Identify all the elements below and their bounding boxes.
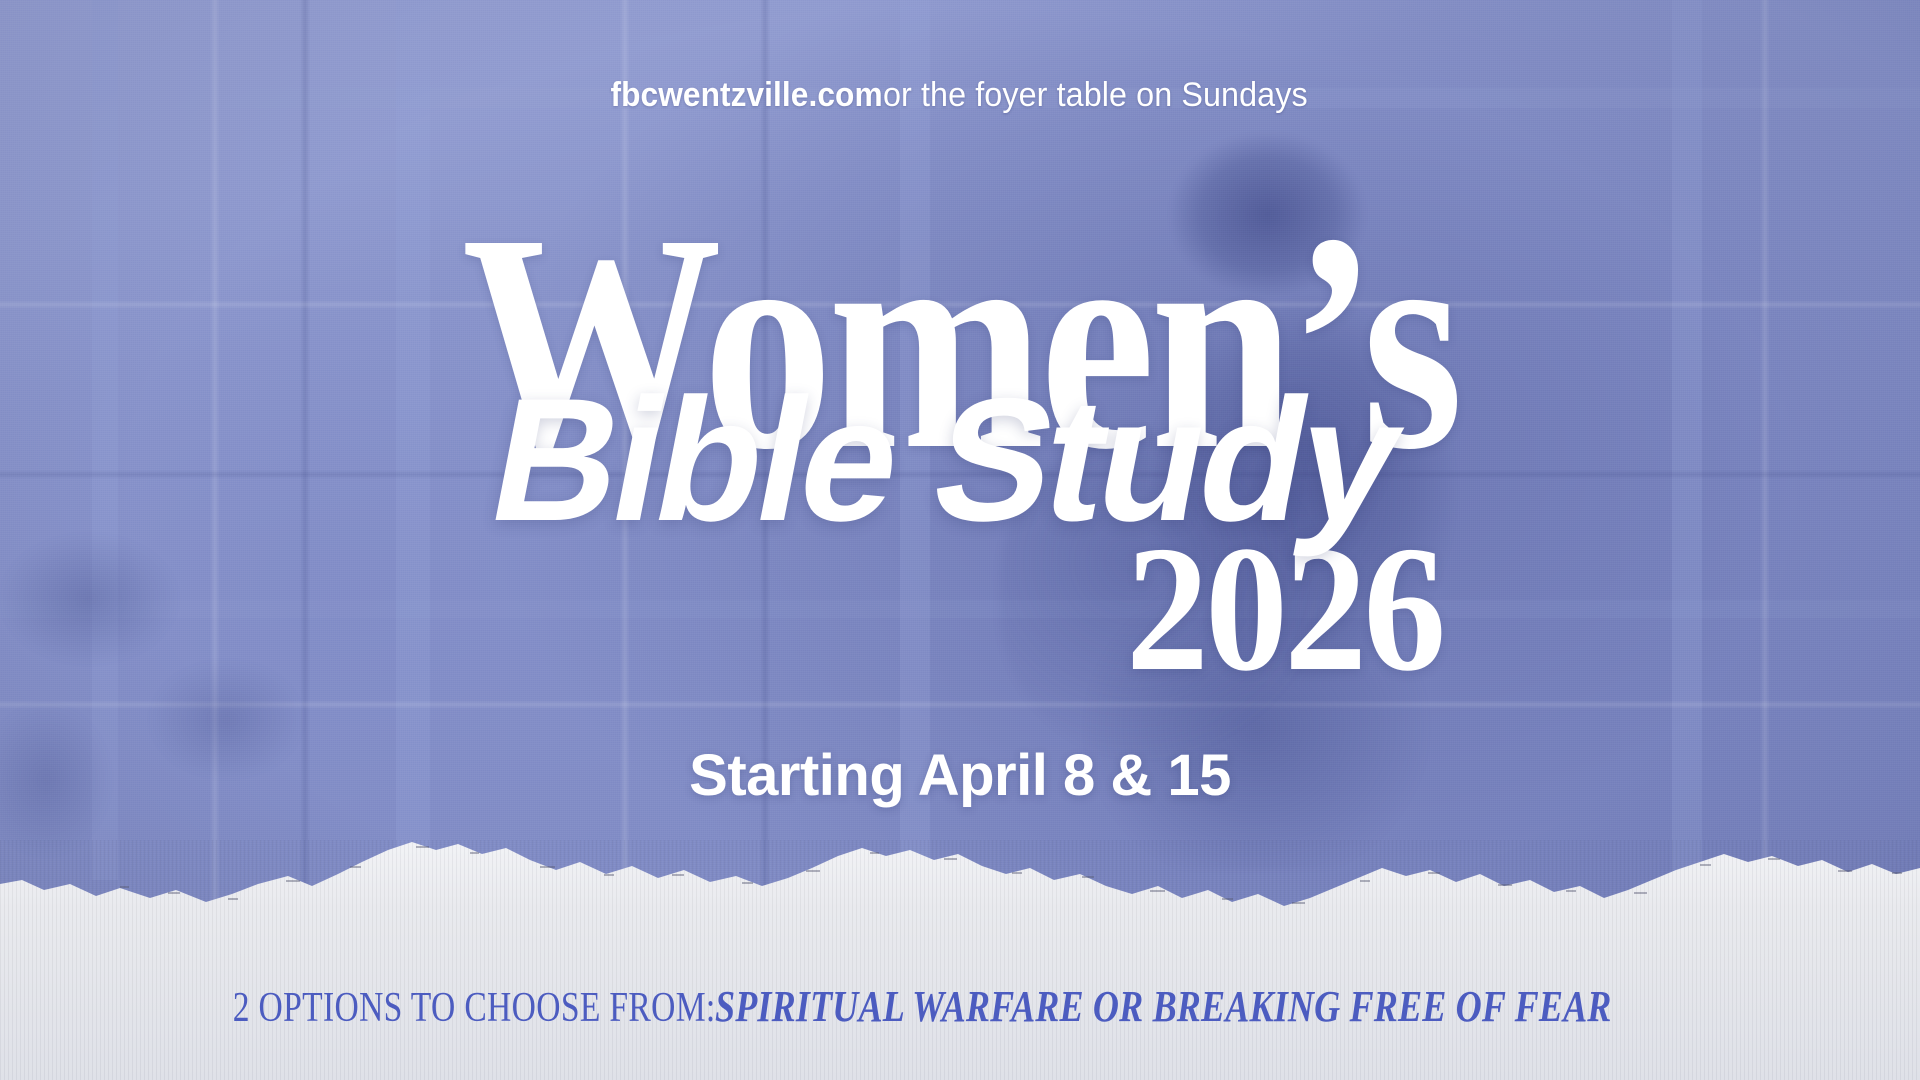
registration-location-text: or the foyer table on Sundays bbox=[883, 76, 1308, 115]
poster-canvas: fbcwentzville.com or the foyer table on … bbox=[0, 0, 1920, 1080]
start-date-text: Starting April 8 & 15 bbox=[0, 742, 1920, 809]
options-banner: 2 OPTIONS TO CHOOSE FROM: SPIRITUAL WARF… bbox=[0, 981, 1920, 1032]
options-lead-text: 2 OPTIONS TO CHOOSE FROM: bbox=[232, 984, 715, 1032]
title-lockup: Women’s 2026 Bible Study bbox=[0, 210, 1920, 730]
options-list-text: SPIRITUAL WARFARE OR BREAKING FREE OF FE… bbox=[715, 981, 1612, 1032]
torn-edge-fill bbox=[0, 842, 1920, 1080]
torn-paper-shape bbox=[0, 840, 1920, 1080]
website-domain-text[interactable]: fbcwentzville.com bbox=[611, 76, 883, 115]
registration-info-line: fbcwentzville.com or the foyer table on … bbox=[0, 76, 1920, 115]
torn-paper-strip bbox=[0, 840, 1920, 1080]
title-line-bible-study: Bible Study bbox=[480, 382, 1409, 540]
